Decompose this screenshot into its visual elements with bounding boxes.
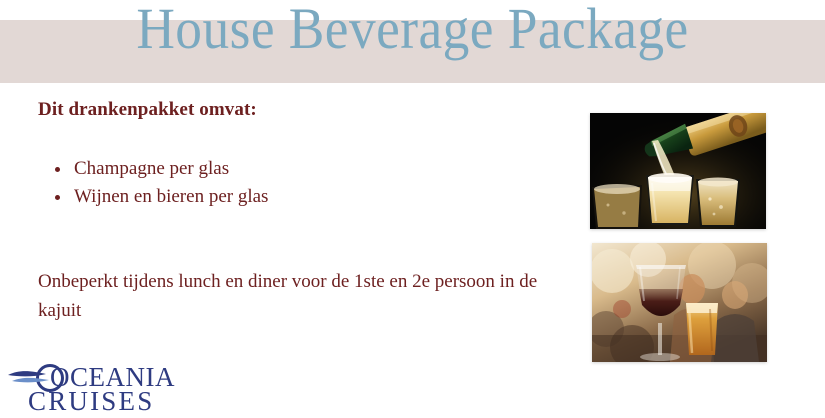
wine-and-beer-illustration — [592, 243, 767, 362]
page-title: House Beverage Package — [33, 0, 792, 62]
bullet-dot-icon — [55, 195, 60, 200]
logo-wordmark-secondary: CRUISES — [28, 387, 154, 415]
oceania-cruises-logo: OCEANIA CRUISES — [6, 363, 171, 415]
wine-and-beer-photo — [592, 243, 767, 362]
lead-heading: Dit drankenpakket omvat: — [38, 99, 257, 121]
availability-note: Onbeperkt tijdens lunch en diner voor de… — [38, 267, 538, 325]
list-item-label: Champagne per glas — [74, 158, 229, 179]
bullet-dot-icon — [55, 167, 60, 172]
list-item: Wijnen en bieren per glas — [38, 183, 268, 211]
champagne-pour-photo — [590, 113, 766, 229]
list-item-label: Wijnen en bieren per glas — [74, 186, 268, 207]
inclusions-list: Champagne per glas Wijnen en bieren per … — [38, 155, 268, 211]
champagne-pour-illustration — [590, 113, 766, 229]
list-item: Champagne per glas — [38, 155, 268, 183]
